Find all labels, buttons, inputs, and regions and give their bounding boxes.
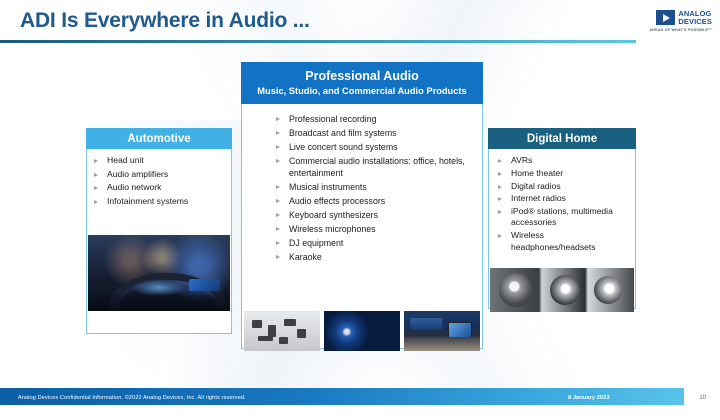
speaker-drivers-photo bbox=[490, 268, 634, 312]
list-item: Commercial audio installations: office, … bbox=[274, 155, 472, 180]
list-item-label: Head unit bbox=[107, 155, 144, 165]
list-item-label: AVRs bbox=[511, 155, 532, 165]
list-item: Karaoke bbox=[274, 251, 472, 263]
speaker-driver-2 bbox=[550, 275, 580, 305]
list-item: AVRs bbox=[496, 155, 629, 166]
digital-home-header: Digital Home bbox=[488, 128, 636, 149]
list-item-label: Infotainment systems bbox=[107, 196, 188, 206]
list-item-label: Audio network bbox=[107, 182, 161, 192]
list-item-label: DJ equipment bbox=[289, 238, 343, 248]
list-item: Musical instruments bbox=[274, 181, 472, 193]
logo-wordmark: ANALOG DEVICES bbox=[678, 10, 712, 25]
digital-home-header-title: Digital Home bbox=[527, 133, 597, 145]
bullet-triangle-icon bbox=[498, 172, 502, 176]
list-item-label: Musical instruments bbox=[289, 182, 367, 192]
infotainment-screen-shape bbox=[189, 279, 220, 291]
blue-speakers-photo bbox=[324, 311, 400, 351]
professional-audio-header-subtitle: Music, Studio, and Commercial Audio Prod… bbox=[257, 85, 466, 97]
list-item-label: Audio amplifiers bbox=[107, 169, 168, 179]
list-item: Head unit bbox=[92, 155, 225, 167]
bullet-triangle-icon bbox=[94, 186, 98, 190]
professional-audio-header-title: Professional Audio bbox=[305, 69, 418, 84]
list-item: Digital radios bbox=[496, 181, 629, 192]
list-item: Live concert sound systems bbox=[274, 141, 472, 153]
list-item: Wireless microphones bbox=[274, 223, 472, 235]
list-item: Audio effects processors bbox=[274, 195, 472, 207]
footer-date: 8 January 2023 bbox=[568, 395, 610, 401]
bullet-triangle-icon bbox=[498, 210, 502, 214]
bullet-triangle-icon bbox=[498, 197, 502, 201]
speaker-driver-1 bbox=[499, 273, 533, 307]
bullet-triangle-icon bbox=[276, 241, 280, 245]
bullet-triangle-icon bbox=[498, 159, 502, 163]
adi-triangle-icon bbox=[656, 10, 675, 25]
bullet-triangle-icon bbox=[276, 213, 280, 217]
instrument-cluster-glow bbox=[131, 279, 188, 296]
list-item-label: Audio effects processors bbox=[289, 196, 385, 206]
bullet-triangle-icon bbox=[94, 200, 98, 204]
footer-page-number: 10 bbox=[699, 395, 706, 401]
bullet-triangle-icon bbox=[498, 234, 502, 238]
bullet-triangle-icon bbox=[94, 159, 98, 163]
list-item-label: Home theater bbox=[511, 168, 563, 178]
list-item: iPod® stations, multimedia accessories bbox=[496, 206, 629, 229]
list-item: Home theater bbox=[496, 168, 629, 179]
list-item: Infotainment systems bbox=[92, 196, 225, 208]
logo-tagline: AHEAD OF WHAT'S POSSIBLE™ bbox=[649, 28, 712, 32]
list-item: Audio network bbox=[92, 182, 225, 194]
professional-audio-photo-strip bbox=[244, 311, 480, 351]
dashboard-shadow bbox=[88, 294, 230, 311]
list-item-label: Keyboard synthesizers bbox=[289, 210, 378, 220]
digital-home-bullet-list: AVRs Home theater Digital radios Interne… bbox=[496, 155, 629, 253]
bullet-triangle-icon bbox=[498, 185, 502, 189]
list-item: DJ equipment bbox=[274, 237, 472, 249]
list-item-label: Digital radios bbox=[511, 181, 561, 191]
bullet-triangle-icon bbox=[276, 145, 280, 149]
bullet-triangle-icon bbox=[276, 185, 280, 189]
title-underline-rule bbox=[0, 40, 636, 43]
bullet-triangle-icon bbox=[94, 173, 98, 177]
bullet-triangle-icon bbox=[276, 199, 280, 203]
analog-devices-logo: ANALOG DEVICES AHEAD OF WHAT'S POSSIBLE™ bbox=[628, 7, 712, 35]
bullet-triangle-icon bbox=[276, 131, 280, 135]
recording-studio-console-photo bbox=[404, 311, 480, 351]
logo-mark-and-wordmark: ANALOG DEVICES bbox=[656, 10, 712, 25]
bullet-triangle-icon bbox=[276, 255, 280, 259]
list-item-label: Internet radios bbox=[511, 193, 566, 203]
list-item: Professional recording bbox=[274, 113, 472, 125]
list-item-label: Live concert sound systems bbox=[289, 142, 398, 152]
studio-desk bbox=[404, 337, 480, 351]
list-item-label: Wireless headphones/headsets bbox=[511, 230, 596, 251]
automotive-header-title: Automotive bbox=[127, 133, 190, 145]
automotive-header: Automotive bbox=[86, 128, 232, 149]
list-item-label: Commercial audio installations: office, … bbox=[289, 156, 465, 178]
automotive-bullet-list: Head unit Audio amplifiers Audio network… bbox=[92, 155, 225, 207]
footer-confidential-text: Analog Devices Confidential Information.… bbox=[18, 395, 246, 401]
list-item-label: Broadcast and film systems bbox=[289, 128, 397, 138]
bullet-triangle-icon bbox=[276, 159, 280, 163]
page-title: ADI Is Everywhere in Audio ... bbox=[20, 9, 310, 33]
list-item-label: iPod® stations, multimedia accessories bbox=[511, 206, 613, 227]
car-interior-night-photo bbox=[88, 235, 230, 311]
bullet-triangle-icon bbox=[276, 227, 280, 231]
professional-audio-bullet-list: Professional recording Broadcast and fil… bbox=[274, 113, 472, 263]
list-item-label: Professional recording bbox=[289, 114, 377, 124]
list-item: Broadcast and film systems bbox=[274, 127, 472, 139]
professional-audio-header: Professional Audio Music, Studio, and Co… bbox=[241, 62, 483, 104]
list-item: Wireless headphones/headsets bbox=[496, 230, 629, 253]
list-item-label: Karaoke bbox=[289, 252, 322, 262]
studio-monitor-screen bbox=[448, 322, 473, 338]
logo-line-2: DEVICES bbox=[678, 18, 712, 26]
speaker-driver-3 bbox=[594, 276, 622, 304]
list-item: Internet radios bbox=[496, 193, 629, 204]
list-item: Audio amplifiers bbox=[92, 169, 225, 181]
bullet-triangle-icon bbox=[276, 117, 280, 121]
studio-wall-panel bbox=[410, 318, 442, 330]
panel-professional-audio: Professional Audio Music, Studio, and Co… bbox=[241, 62, 483, 349]
list-item-label: Wireless microphones bbox=[289, 224, 376, 234]
electronic-components-photo bbox=[244, 311, 320, 351]
list-item: Keyboard synthesizers bbox=[274, 209, 472, 221]
